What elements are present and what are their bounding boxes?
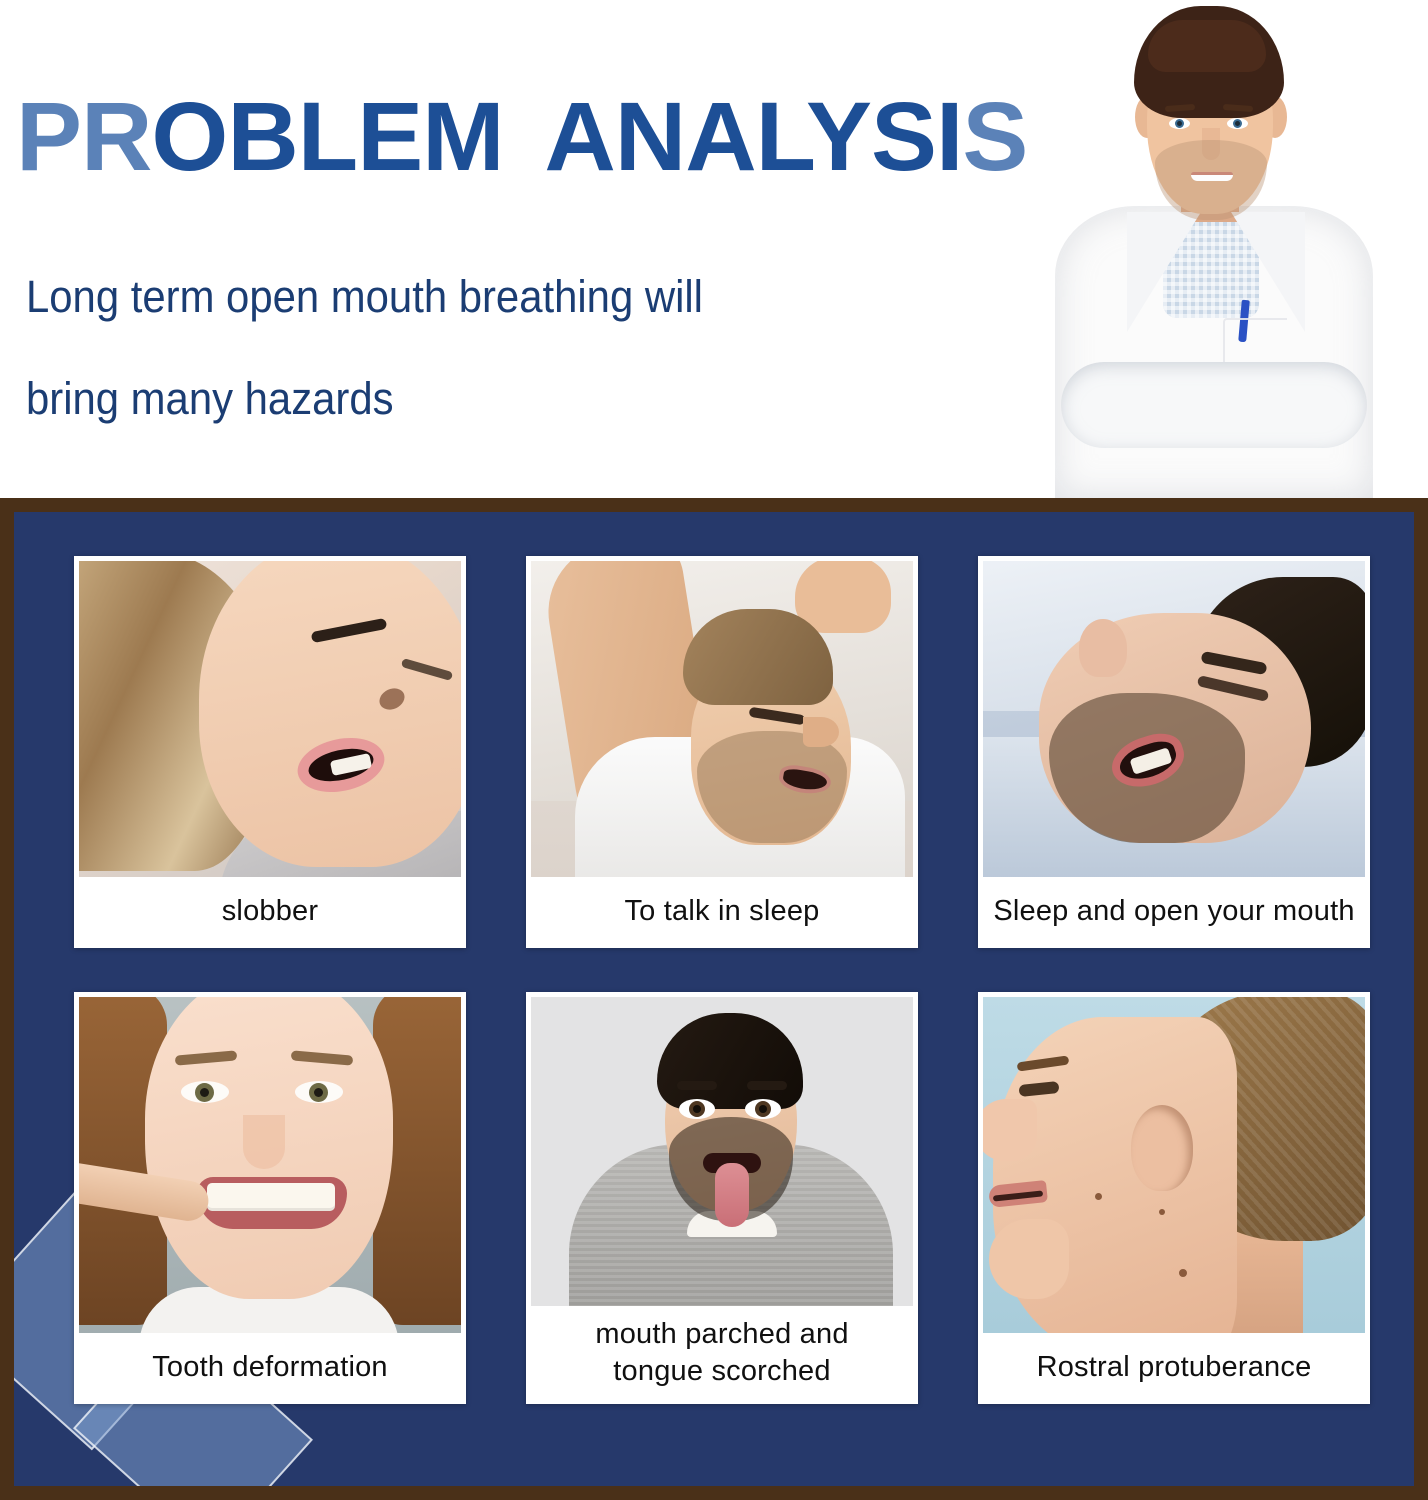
doctor-hair [1134,6,1284,118]
title-segment-3: ANALYSI [544,82,962,191]
eye-right [295,1081,343,1103]
card-caption-parched-mouth: mouth parched and tongue scorched [526,1306,918,1404]
doctor-lapel-left [1127,212,1201,332]
subtitle-line-2: bring many hazards [26,348,863,450]
mole-shape-1 [1095,1193,1102,1200]
card-photo-sleep-talking [531,561,913,877]
hazard-card-parched-mouth[interactable]: mouth parched and tongue scorched [526,992,918,1404]
hazard-card-open-mouth-sleep[interactable]: Sleep and open your mouth [978,556,1370,948]
card-photo-rostral-protuberance [983,997,1365,1333]
chin-shape [989,1219,1069,1299]
eyebrow-right [747,1081,787,1090]
mole-shape-2 [1159,1209,1165,1215]
card-caption-rostral-protuberance: Rostral protuberance [978,1333,1370,1404]
tongue-shape [715,1163,749,1227]
subtitle-line-1: Long term open mouth breathing will [26,246,863,348]
card-photo-tooth-deformation [79,997,461,1333]
nose-shape [803,717,839,747]
card-photo-slobber [79,561,461,877]
mole-shape-3 [1179,1269,1187,1277]
eyebrow-left [677,1081,717,1090]
hazard-card-tooth-deformation[interactable]: Tooth deformation [74,992,466,1404]
nose-shape [983,1099,1037,1161]
hazard-card-slobber[interactable]: slobber [74,556,466,948]
card-caption-open-mouth-sleep: Sleep and open your mouth [978,877,1370,948]
hand-shape [795,561,891,633]
eye-left [181,1081,229,1103]
doctor-mouth [1191,172,1233,181]
card-caption-sleep-talking: To talk in sleep [526,877,918,948]
hazard-card-sleep-talking[interactable]: To talk in sleep [526,556,918,948]
hair-shape [683,609,833,705]
eye-right [745,1099,781,1119]
subtitle: Long term open mouth breathing will brin… [26,246,863,450]
card-caption-tooth-deformation: Tooth deformation [74,1333,466,1404]
header-section: PROBLEMANALYSIS Long term open mouth bre… [0,0,1428,498]
eye-left [679,1099,715,1119]
teeth-shape [207,1183,335,1211]
doctor-crossed-arms [1061,362,1367,448]
nose-shape [243,1115,285,1169]
doctor-eye-right [1227,118,1248,129]
title-segment-2: OBLEM [151,82,503,191]
hair-shape [657,1013,803,1109]
page-title: PROBLEMANALYSIS [16,88,1027,185]
poster-page: PROBLEMANALYSIS Long term open mouth bre… [0,0,1428,1500]
hazard-card-grid: slobber [74,556,1370,1404]
ear-shape [1079,619,1127,677]
card-caption-slobber: slobber [74,877,466,948]
ear-shape [1131,1105,1193,1191]
card-photo-open-mouth-sleep [983,561,1365,877]
hazards-panel: slobber [14,512,1414,1486]
panel-frame: slobber [0,498,1428,1500]
hazard-card-rostral-protuberance[interactable]: Rostral protuberance [978,992,1370,1404]
face-shape [199,561,461,867]
title-segment-1: PR [16,82,151,191]
doctor-eye-left [1169,118,1190,129]
card-photo-parched-mouth [531,997,913,1306]
doctor-photo [995,0,1428,498]
